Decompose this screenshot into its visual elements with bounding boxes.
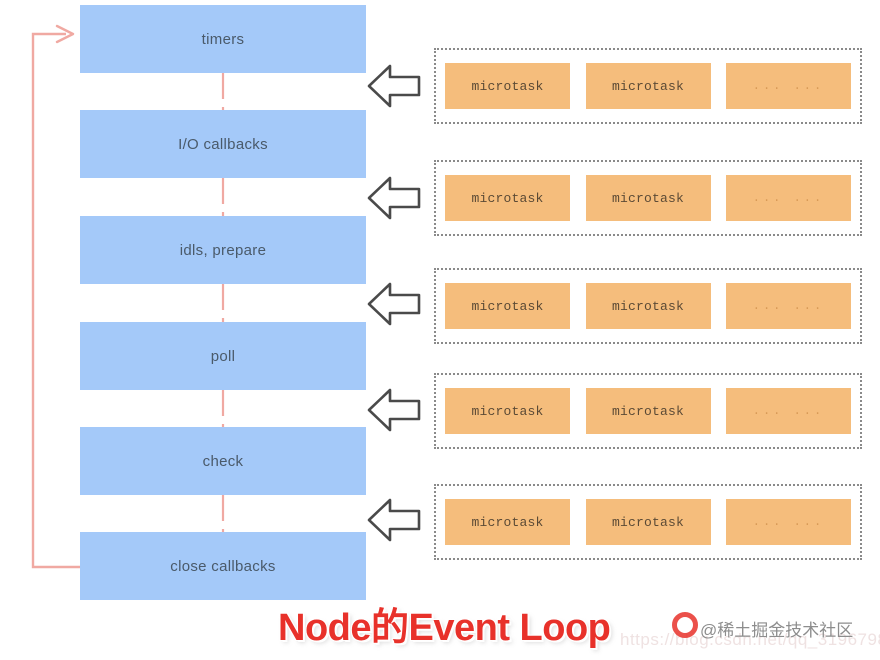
arrow-left-icon — [366, 60, 422, 112]
microtask-box[interactable]: microtask — [445, 63, 570, 109]
arrow-left-icon — [366, 172, 422, 224]
brand-logo-icon — [672, 612, 698, 638]
microtask-queue-group: microtask microtask ... ... — [434, 160, 862, 236]
microtask-box[interactable]: microtask — [445, 175, 570, 221]
microtask-box[interactable]: microtask — [586, 175, 711, 221]
phase-box-io-callbacks[interactable]: I/O callbacks — [80, 110, 366, 178]
microtask-queue-group: microtask microtask ... ... — [434, 48, 862, 124]
microtask-box-ellipsis[interactable]: ... ... — [726, 175, 851, 221]
microtask-box[interactable]: microtask — [445, 388, 570, 434]
microtask-queue-group: microtask microtask ... ... — [434, 373, 862, 449]
phase-label: poll — [211, 348, 236, 365]
microtask-box[interactable]: microtask — [586, 283, 711, 329]
phase-label: idls, prepare — [180, 242, 266, 259]
phase-label: check — [203, 453, 244, 470]
microtask-box[interactable]: microtask — [586, 63, 711, 109]
arrow-left-icon — [366, 494, 422, 546]
phase-label: timers — [202, 31, 245, 48]
diagram-canvas: timers I/O callbacks idls, prepare poll … — [0, 0, 880, 660]
arrow-left-icon — [366, 278, 422, 330]
microtask-box[interactable]: microtask — [445, 499, 570, 545]
phase-box-check[interactable]: check — [80, 427, 366, 495]
microtask-box-ellipsis[interactable]: ... ... — [726, 63, 851, 109]
microtask-box-ellipsis[interactable]: ... ... — [726, 499, 851, 545]
microtask-queue-group: microtask microtask ... ... — [434, 484, 862, 560]
event-loop-cycle-arrow — [0, 0, 110, 620]
arrow-left-icon — [366, 384, 422, 436]
phase-label: close callbacks — [170, 558, 275, 575]
microtask-box[interactable]: microtask — [586, 499, 711, 545]
phase-connectors — [214, 0, 232, 600]
microtask-queue-group: microtask microtask ... ... — [434, 268, 862, 344]
microtask-box[interactable]: microtask — [586, 388, 711, 434]
phase-box-close-callbacks[interactable]: close callbacks — [80, 532, 366, 600]
phase-box-timers[interactable]: timers — [80, 5, 366, 73]
diagram-title: Node的Event Loop — [278, 596, 610, 651]
phase-label: I/O callbacks — [178, 136, 268, 153]
microtask-box-ellipsis[interactable]: ... ... — [726, 283, 851, 329]
watermark-brand: @稀土掘金技术社区 — [700, 616, 853, 641]
phase-box-poll[interactable]: poll — [80, 322, 366, 390]
microtask-box[interactable]: microtask — [445, 283, 570, 329]
phase-box-idls-prepare[interactable]: idls, prepare — [80, 216, 366, 284]
microtask-box-ellipsis[interactable]: ... ... — [726, 388, 851, 434]
